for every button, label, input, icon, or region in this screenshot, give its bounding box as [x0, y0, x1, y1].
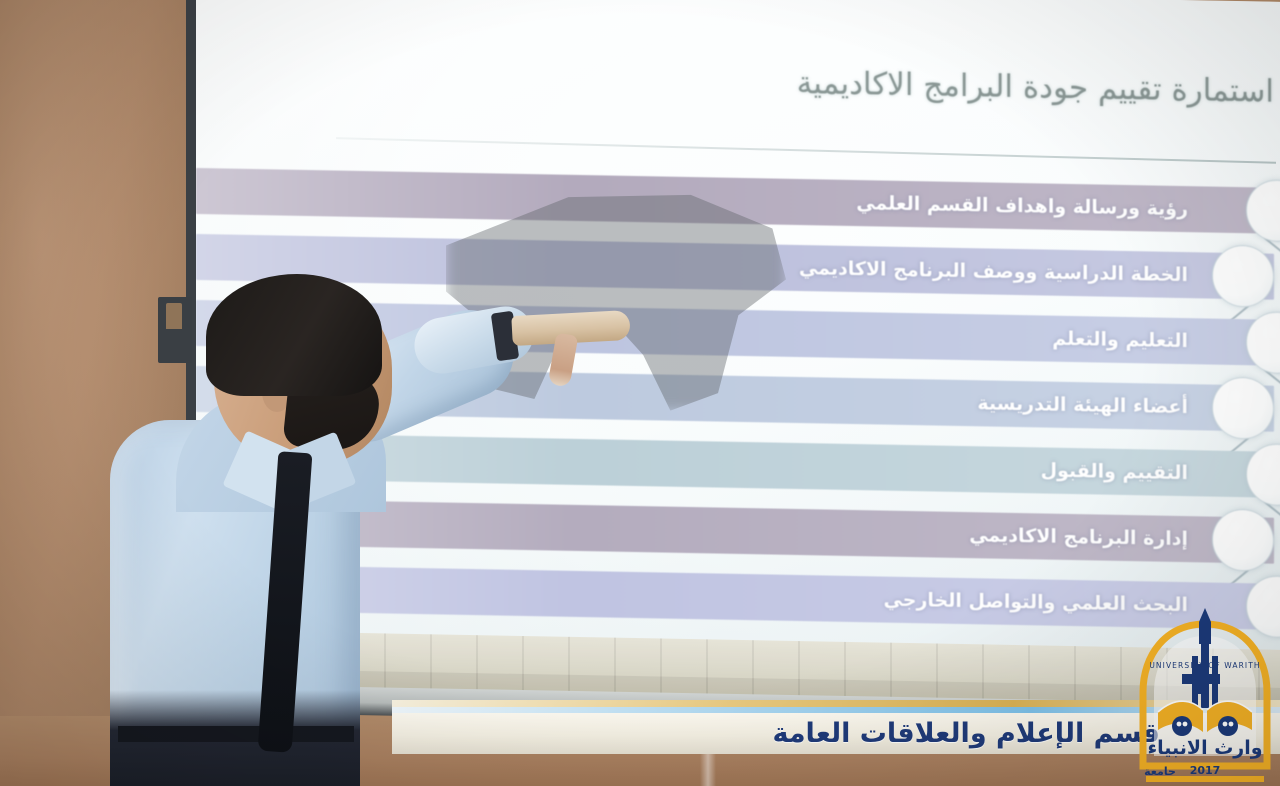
university-logo: UNIVERSITY OF WARITH وارث الانبياء	[1130, 608, 1280, 786]
slide-item-label: التقييم والقبول	[1041, 459, 1188, 484]
slide-item-label: إدارة البرنامج الاكاديمي	[969, 524, 1188, 550]
slide-item-label: أعضاء الهيئة التدريسية	[977, 392, 1188, 418]
banner-text: قسم الإعلام والعلاقات العامة	[772, 718, 1160, 749]
slide-title: استمارة تقييم جودة البرامج الاكاديمية	[634, 62, 1274, 110]
slide-item-bullet-2	[1212, 245, 1274, 308]
svg-text:2017: 2017	[1190, 764, 1221, 777]
presenter-belt	[118, 726, 354, 742]
svg-text:وارث الانبياء: وارث الانبياء	[1147, 737, 1262, 759]
presenter-hair	[206, 274, 382, 396]
slide-item-bullet-6	[1212, 509, 1274, 572]
presenter	[0, 0, 700, 786]
university-crest-icon: UNIVERSITY OF WARITH وارث الانبياء	[1130, 608, 1280, 786]
slide-item-label: التعليم والتعلم	[1052, 328, 1188, 352]
presentation-photo: استمارة تقييم جودة البرامج الاكاديمية رؤ…	[0, 0, 1280, 786]
slide-item-bullet-4	[1212, 377, 1274, 440]
